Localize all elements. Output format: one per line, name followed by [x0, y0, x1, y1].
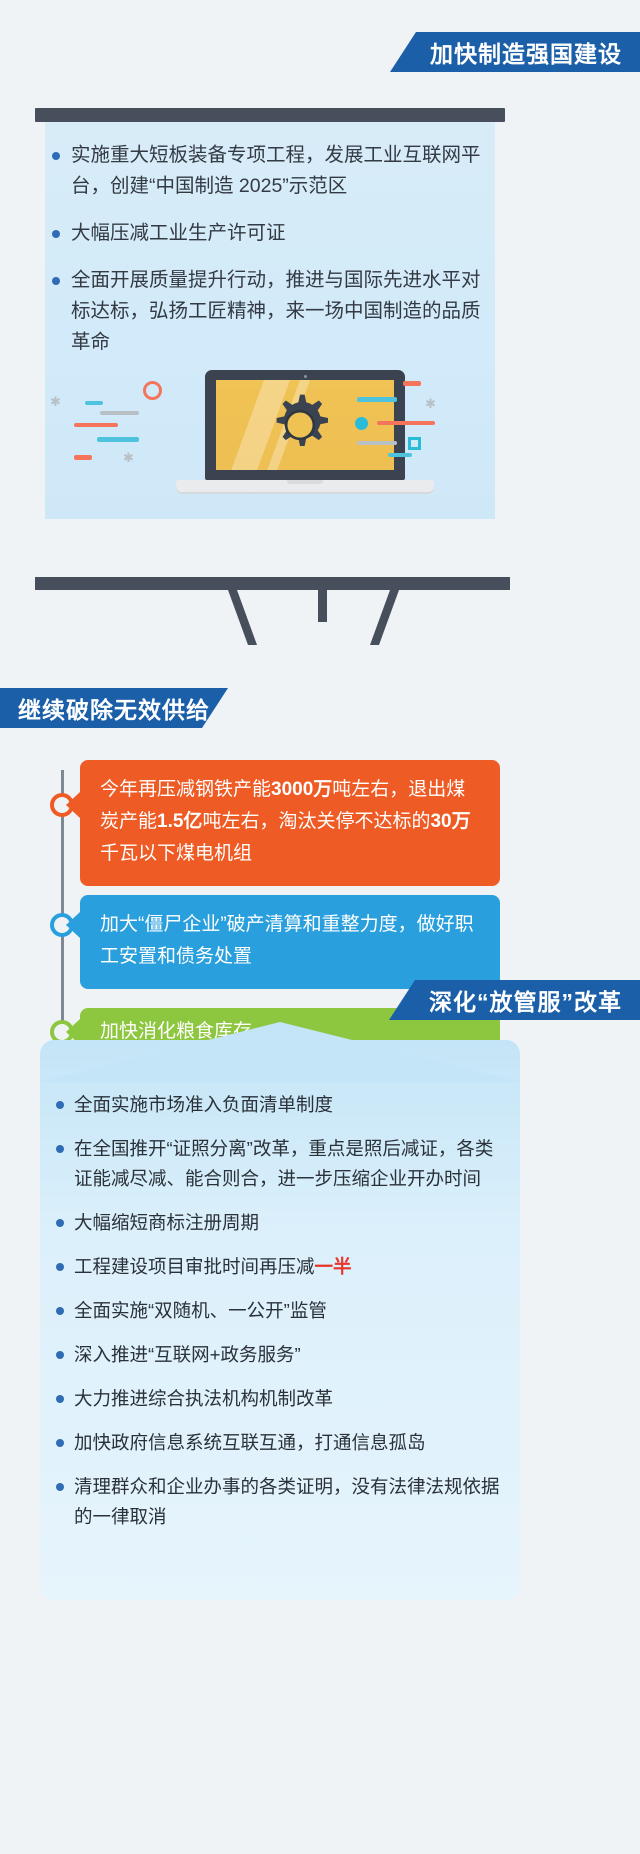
list-item: 大力推进综合执法机构机制改革 [56, 1384, 506, 1414]
dash-line-icon [74, 423, 118, 427]
list-item-text: 在全国推开“证照分离”改革，重点是照后减证，各类证能减尽减、能合则合，进一步压缩… [74, 1134, 506, 1194]
bullet-dot-icon [52, 230, 60, 238]
dash-line-icon [74, 455, 92, 460]
callout-arrow [66, 912, 80, 938]
list-item-text: 实施重大短板装备专项工程，发展工业互联网平台，创建“中国制造 2025”示范区 [71, 140, 492, 202]
bullet-dot-icon [56, 1101, 64, 1109]
bullet-list-fangguanfu: 全面实施市场准入负面清单制度 在全国推开“证照分离”改革，重点是照后减证，各类证… [56, 1090, 506, 1546]
bullet-dot-icon [56, 1307, 64, 1315]
easel-leg-left [228, 590, 257, 645]
dash-line-icon [357, 441, 397, 445]
list-item-text: 全面实施“双随机、一公开”监管 [74, 1296, 327, 1326]
dash-line-icon [388, 453, 412, 457]
bullet-dot-icon [56, 1351, 64, 1359]
list-item-text: 全面实施市场准入负面清单制度 [74, 1090, 333, 1120]
list-item: 深入推进“互联网+政务服务” [56, 1340, 506, 1370]
highlight-text: 一半 [315, 1256, 352, 1277]
list-item-text: 工程建设项目审批时间再压减一半 [74, 1252, 352, 1282]
list-item-text: 全面开展质量提升行动，推进与国际先进水平对标达标，弘扬工匠精神，来一场中国制造的… [71, 265, 492, 358]
list-item: 全面开展质量提升行动，推进与国际先进水平对标达标，弘扬工匠精神，来一场中国制造的… [52, 265, 492, 358]
circle-outline-icon [143, 381, 162, 400]
list-item: 加快政府信息系统互联互通，打通信息孤岛 [56, 1428, 506, 1458]
list-item-text: 大力推进综合执法机构机制改革 [74, 1384, 333, 1414]
sparkle-icon: ✱ [425, 397, 436, 410]
bullet-dot-icon [56, 1483, 64, 1491]
dash-line-icon [85, 401, 103, 405]
bullet-dot-icon [56, 1395, 64, 1403]
timeline-box-text: 今年再压减钢铁产能3000万吨左右，退出煤炭产能1.5亿吨左右，淘汰关停不达标的… [100, 779, 471, 864]
bullet-dot-icon [52, 152, 60, 160]
list-item: 实施重大短板装备专项工程，发展工业互联网平台，创建“中国制造 2025”示范区 [52, 140, 492, 202]
timeline-box-1: 今年再压减钢铁产能3000万吨左右，退出煤炭产能1.5亿吨左右，淘汰关停不达标的… [80, 760, 500, 886]
dot-icon [355, 417, 368, 430]
laptop-illustration: ✱ ✱ ✱ [45, 355, 495, 515]
timeline-box-text: 加大“僵尸企业”破产清算和重整力度，做好职工安置和债务处置 [100, 914, 474, 967]
webcam-icon [304, 375, 307, 378]
list-item: 工程建设项目审批时间再压减一半 [56, 1252, 506, 1282]
section-header-text: 加快制造强国建设 [430, 35, 622, 69]
easel-leg-center [318, 590, 327, 622]
sparkle-icon: ✱ [50, 395, 61, 408]
section-header-fangguanfu: 深化“放管服”改革 [389, 980, 640, 1020]
section-header-text: 继续破除无效供给 [18, 691, 210, 725]
sparkle-icon: ✱ [123, 451, 134, 464]
timeline-box-2: 加大“僵尸企业”破产清算和重整力度，做好职工安置和债务处置 [80, 895, 500, 989]
bullet-dot-icon [56, 1145, 64, 1153]
list-item: 全面实施市场准入负面清单制度 [56, 1090, 506, 1120]
dash-line-icon [403, 381, 421, 386]
section-header-ineffective-supply: 继续破除无效供给 [0, 688, 228, 728]
list-item-text: 清理群众和企业办事的各类证明，没有法律法规依据的一律取消 [74, 1472, 506, 1532]
dash-line-icon [357, 397, 397, 402]
section-header-manufacturing: 加快制造强国建设 [390, 32, 640, 72]
list-item: 在全国推开“证照分离”改革，重点是照后减证，各类证能减尽减、能合则合，进一步压缩… [56, 1134, 506, 1194]
square-outline-icon [408, 437, 421, 450]
list-item-text: 大幅压减工业生产许可证 [71, 218, 286, 249]
bullet-dot-icon [56, 1263, 64, 1271]
callout-arrow [66, 792, 80, 818]
bullet-list-manufacturing: 实施重大短板装备专项工程，发展工业互联网平台，创建“中国制造 2025”示范区 … [52, 140, 492, 374]
easel-top-bar [35, 108, 505, 122]
list-item-text: 大幅缩短商标注册周期 [74, 1208, 259, 1238]
dash-line-icon [377, 421, 435, 425]
bullet-dot-icon [56, 1439, 64, 1447]
section-header-text: 深化“放管服”改革 [429, 983, 622, 1017]
gear-icon [267, 392, 333, 458]
dash-line-icon [97, 437, 139, 442]
list-item: 清理群众和企业办事的各类证明，没有法律法规依据的一律取消 [56, 1472, 506, 1532]
list-item: 大幅缩短商标注册周期 [56, 1208, 506, 1238]
list-item-text: 深入推进“互联网+政务服务” [74, 1340, 301, 1370]
easel-leg-right [370, 590, 399, 645]
list-item: 全面实施“双随机、一公开”监管 [56, 1296, 506, 1326]
bullet-dot-icon [56, 1219, 64, 1227]
laptop-notch [287, 480, 323, 484]
list-item: 大幅压减工业生产许可证 [52, 218, 492, 249]
easel-rail [35, 577, 510, 590]
bullet-dot-icon [52, 277, 60, 285]
dash-line-icon [100, 411, 139, 415]
list-item-text: 加快政府信息系统互联互通，打通信息孤岛 [74, 1428, 426, 1458]
